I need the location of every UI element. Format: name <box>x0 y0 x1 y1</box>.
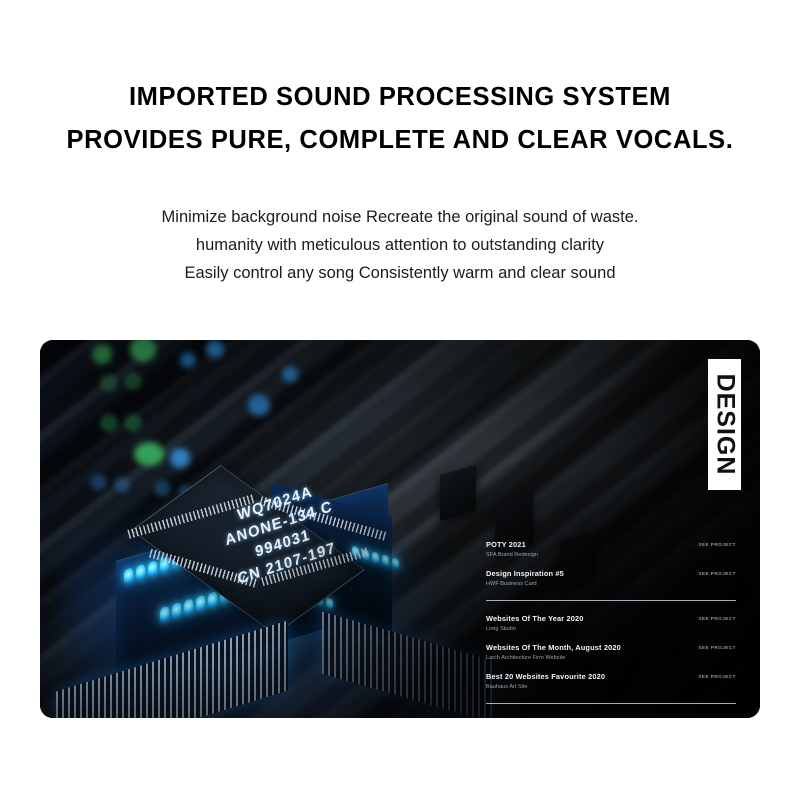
see-project-link[interactable]: SEE PROJECT <box>690 616 736 621</box>
project-award-list: POTY 2021 SFA Brand Redesign SEE PROJECT… <box>486 540 736 718</box>
see-project-link[interactable]: SEE PROJECT <box>690 542 736 547</box>
project-subtitle: SFA Brand Redesign <box>486 551 538 560</box>
project-title: Best 20 Websites Favourite 2020 <box>486 672 605 682</box>
list-item[interactable]: Websites Of The Month, August 2020 Larch… <box>486 643 736 663</box>
see-project-link[interactable]: SEE PROJECT <box>690 645 736 650</box>
project-text: 1st Winner Portfolio Review US 2019 Desi… <box>486 717 620 718</box>
project-text: Best 20 Websites Favourite 2020 Bauhaus … <box>486 672 605 692</box>
list-item[interactable]: Design Inspiration #5 HWF Business Card … <box>486 569 736 589</box>
project-subtitle: Bauhaus Art Site <box>486 683 605 692</box>
headline-block: IMPORTED SOUND PROCESSING SYSTEM PROVIDE… <box>0 76 800 162</box>
project-text: POTY 2021 SFA Brand Redesign <box>486 540 538 560</box>
project-subtitle: HWF Business Card <box>486 580 564 589</box>
design-badge-label: DESIGN <box>710 374 739 476</box>
project-subtitle: Lreig Studio <box>486 625 584 634</box>
project-title: 1st Winner Portfolio Review US 2019 <box>486 717 620 718</box>
project-title: Websites Of The Year 2020 <box>486 614 584 624</box>
design-badge: DESIGN <box>708 359 741 490</box>
project-title: POTY 2021 <box>486 540 538 550</box>
list-item[interactable]: Websites Of The Year 2020 Lreig Studio S… <box>486 614 736 634</box>
list-item[interactable]: POTY 2021 SFA Brand Redesign SEE PROJECT <box>486 540 736 560</box>
headline-line-2: PROVIDES PURE, COMPLETE AND CLEAR VOCALS… <box>0 119 800 162</box>
hero-image-panel: WQ7024A ANONE-134 C 994031 CN 2107-197 D… <box>40 340 760 718</box>
see-project-link[interactable]: SEE PROJECT <box>690 571 736 576</box>
project-title: Websites Of The Month, August 2020 <box>486 643 621 653</box>
see-project-link[interactable]: SEE PROJECT <box>690 674 736 679</box>
subcopy-line-2: humanity with meticulous attention to ou… <box>0 231 800 259</box>
headline-line-1: IMPORTED SOUND PROCESSING SYSTEM <box>0 76 800 119</box>
poster-page: IMPORTED SOUND PROCESSING SYSTEM PROVIDE… <box>0 0 800 800</box>
list-divider <box>486 703 736 704</box>
list-item[interactable]: 1st Winner Portfolio Review US 2019 Desi… <box>486 717 736 718</box>
project-text: Websites Of The Year 2020 Lreig Studio <box>486 614 584 634</box>
project-text: Websites Of The Month, August 2020 Larch… <box>486 643 621 663</box>
subcopy-line-3: Easily control any song Consistently war… <box>0 259 800 287</box>
subcopy-line-1: Minimize background noise Recreate the o… <box>0 203 800 231</box>
list-item[interactable]: Best 20 Websites Favourite 2020 Bauhaus … <box>486 672 736 692</box>
list-divider <box>486 600 736 601</box>
project-title: Design Inspiration #5 <box>486 569 564 579</box>
project-subtitle: Larch Architecture Firm Website <box>486 654 621 663</box>
subcopy-block: Minimize background noise Recreate the o… <box>0 203 800 287</box>
project-text: Design Inspiration #5 HWF Business Card <box>486 569 564 589</box>
